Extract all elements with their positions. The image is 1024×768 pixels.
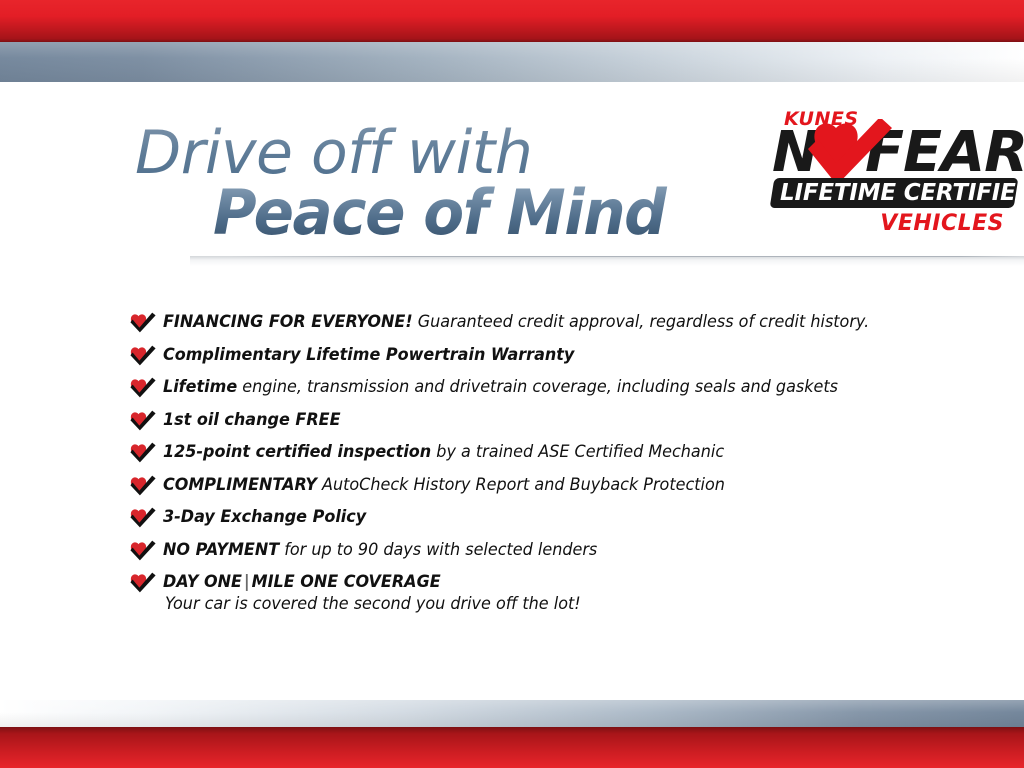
promo-flyer: Drive off with Peace of Mind KUNES N FEA… — [0, 0, 1024, 768]
list-item-bold: Complimentary Lifetime Powertrain Warran… — [163, 345, 574, 364]
list-item-bold: 1st oil change FREE — [163, 410, 341, 429]
list-item-text: COMPLIMENTARY AutoCheck History Report a… — [163, 471, 907, 496]
list-item-bold: Lifetime — [163, 377, 237, 396]
list-item-bold: 3-Day Exchange Policy — [163, 507, 366, 526]
list-item-text: 3-Day Exchange Policy — [163, 503, 907, 528]
list-item-bold: 125-point certified inspection — [163, 442, 431, 461]
list-item-text: 1st oil change FREE — [163, 406, 907, 431]
list-item: COMPLIMENTARY AutoCheck History Report a… — [130, 471, 930, 504]
heart-check-bullet-icon — [130, 475, 156, 496]
logo-certified-bar-text: LIFETIME CERTIFIED — [780, 179, 1020, 207]
list-item: 3-Day Exchange Policy — [130, 503, 930, 536]
list-item-text: Lifetime engine, transmission and drivet… — [163, 373, 907, 398]
bottom-gray-band-sheen — [0, 700, 1024, 727]
list-item-text: NO PAYMENT for up to 90 days with select… — [163, 536, 907, 561]
heart-check-bullet-icon — [130, 507, 156, 528]
list-item-rest: for up to 90 days with selected lenders — [279, 540, 597, 559]
list-item-rest: by a trained ASE Certified Mechanic — [431, 442, 724, 461]
headline: Drive off with Peace of Mind — [135, 122, 775, 246]
list-item-text: FINANCING FOR EVERYONE! Guaranteed credi… — [163, 308, 907, 333]
list-item-text: Complimentary Lifetime Powertrain Warran… — [163, 341, 907, 366]
logo-footer-vehicles: VEHICLES — [880, 211, 1004, 236]
top-red-band — [0, 0, 1024, 42]
list-item-text: 125-point certified inspection by a trai… — [163, 438, 907, 463]
list-item: Lifetime engine, transmission and drivet… — [130, 373, 930, 406]
list-item-rest: AutoCheck History Report and Buyback Pro… — [317, 475, 725, 494]
list-item-rest: engine, transmission and drivetrain cove… — [237, 377, 838, 396]
heart-check-bullet-icon — [130, 540, 156, 561]
headline-line-2: Peace of Mind — [213, 180, 753, 246]
bottom-red-band — [0, 727, 1024, 768]
list-item-bold: COMPLIMENTARY — [163, 475, 317, 494]
list-item: 1st oil change FREE — [130, 406, 930, 439]
list-item-bold: FINANCING FOR EVERYONE! — [163, 312, 413, 331]
list-item-separator: | — [242, 572, 252, 591]
list-item: Complimentary Lifetime Powertrain Warran… — [130, 341, 930, 374]
heart-check-bullet-icon — [130, 312, 156, 333]
list-item-text: DAY ONE|MILE ONE COVERAGE — [163, 568, 907, 593]
top-gray-band-sheen — [0, 42, 1024, 82]
list-item: 125-point certified inspection by a trai… — [130, 438, 930, 471]
header-divider-line — [230, 256, 1024, 257]
heart-check-bullet-icon — [130, 377, 156, 398]
heart-checkmark-icon — [806, 119, 892, 187]
heart-check-bullet-icon — [130, 442, 156, 463]
list-item-rest: Guaranteed credit approval, regardless o… — [413, 312, 870, 331]
heart-check-bullet-icon — [130, 572, 156, 593]
benefits-list: FINANCING FOR EVERYONE! Guaranteed credi… — [130, 308, 930, 622]
logo-nofear-wordmark: N FEAR — [770, 125, 1018, 183]
list-item-bold-a: DAY ONE — [163, 572, 242, 591]
headline-line-1: Drive off with — [135, 122, 775, 184]
list-item: DAY ONE|MILE ONE COVERAGE Your car is co… — [130, 568, 930, 622]
list-item-bold-b: MILE ONE COVERAGE — [252, 572, 441, 591]
heart-check-bullet-icon — [130, 410, 156, 431]
heart-check-bullet-icon — [130, 345, 156, 366]
list-item-bold: NO PAYMENT — [163, 540, 279, 559]
list-item-subtext: Your car is covered the second you drive… — [165, 594, 907, 613]
kunes-no-fear-logo: KUNES N FEAR LIFETIME CERTIFIED VEHICLES — [770, 108, 1018, 243]
list-item: FINANCING FOR EVERYONE! Guaranteed credi… — [130, 308, 930, 341]
list-item: NO PAYMENT for up to 90 days with select… — [130, 536, 930, 569]
header-divider-shadow — [190, 256, 1024, 266]
